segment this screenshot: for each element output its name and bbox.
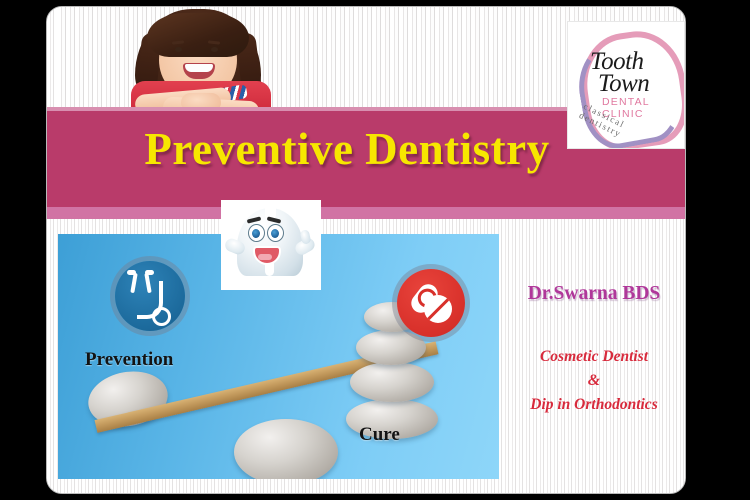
cartoon-tooth-mascot-icon: [221, 200, 321, 290]
tooth-eye-right: [267, 224, 284, 242]
doctor-credential-orthodontics: Dip in Orthodontics: [503, 396, 685, 414]
slide-stage: Preventive Dentistry Tooth Town DENTAL C…: [0, 0, 750, 500]
child-teeth: [185, 64, 213, 72]
logo-word-town: Town: [598, 70, 649, 98]
child-eye-left: [175, 47, 182, 52]
prevention-label: Prevention: [85, 349, 173, 371]
presentation-slide-card: Preventive Dentistry Tooth Town DENTAL C…: [46, 6, 686, 494]
tooth-eye-left: [248, 224, 265, 242]
pebble-fulcrum-bottom: [234, 419, 338, 479]
stethoscope-bell: [152, 307, 171, 326]
clinic-logo: Tooth Town DENTAL CLINIC classical denti…: [567, 21, 685, 149]
doctor-credential-separator: &: [503, 372, 685, 390]
stethoscope-icon: [115, 261, 185, 331]
slide-title: Preventive Dentistry: [47, 123, 647, 175]
child-eye-right: [211, 47, 218, 52]
title-band-bottom-accent-strip: [47, 207, 685, 219]
tablet-pill-icon: [424, 295, 452, 323]
child-hair-fringe: [147, 13, 249, 57]
pebble-stack-2: [350, 362, 434, 402]
doctor-name: Dr.Swarna BDS: [503, 283, 685, 305]
smiling-child-photo: [107, 7, 292, 112]
pills-icon: [397, 269, 465, 337]
cure-label: Cure: [359, 424, 400, 446]
pebble-stack-3: [356, 330, 426, 365]
doctor-credential-cosmetic-dentist: Cosmetic Dentist: [503, 348, 685, 366]
